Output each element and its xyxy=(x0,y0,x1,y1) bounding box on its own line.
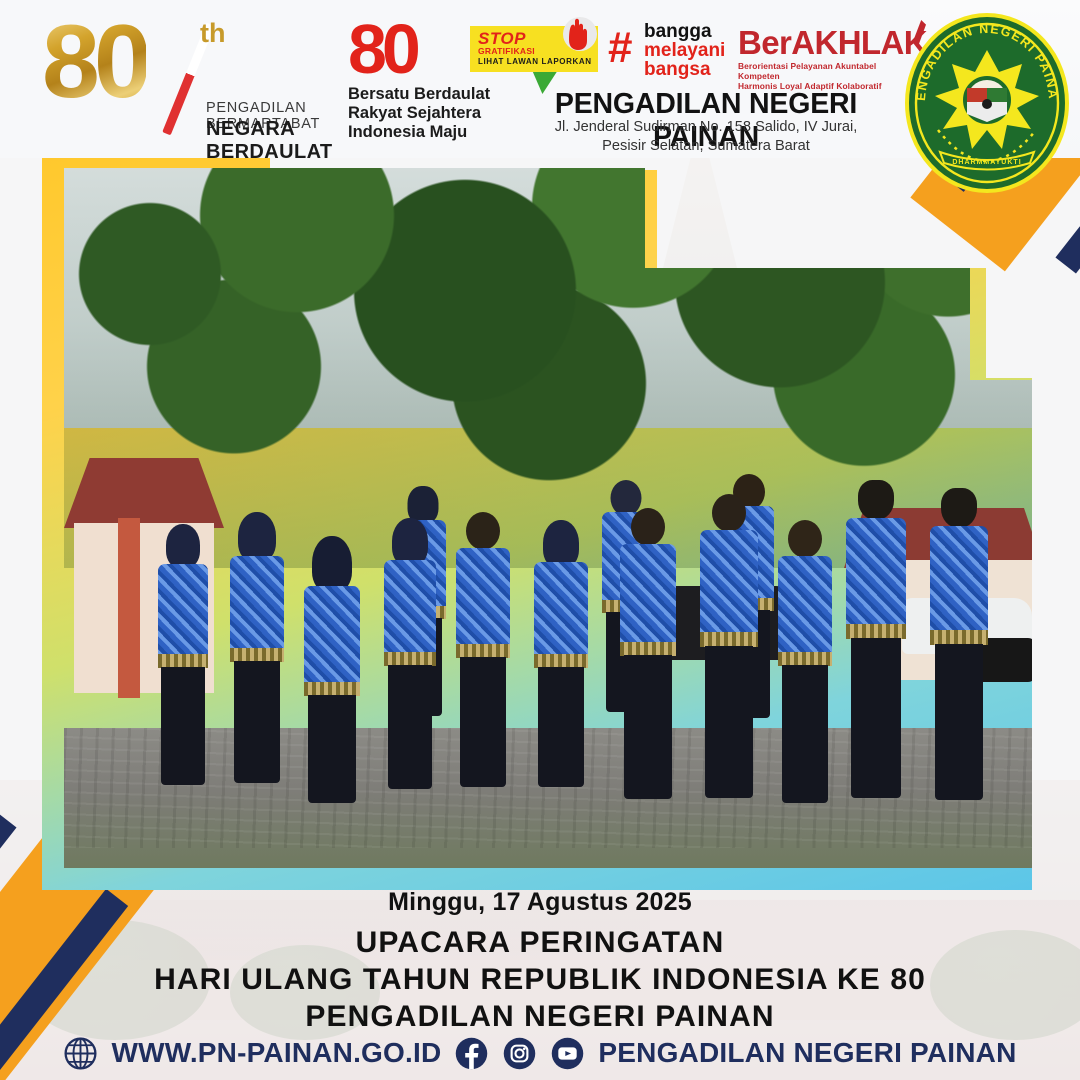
globe-icon[interactable] xyxy=(63,1036,98,1071)
ceremony-photo xyxy=(64,168,1032,868)
bangga-word3: bangsa xyxy=(644,60,711,80)
court-address-line2: Pesisir Selatan, Sumatera Barat xyxy=(500,137,912,156)
poster-canvas: 80 th PENGADILAN BERMARTABAT NEGARA BERD… xyxy=(0,0,1080,1080)
berakhlak-title: BerAKHLAK xyxy=(738,26,918,59)
caption-block: Minggu, 17 Agustus 2025 UPACARA PERINGAT… xyxy=(0,888,1080,1034)
photo-person xyxy=(846,480,906,798)
photo-person xyxy=(384,518,436,788)
logo-stop-gratifikasi: STOP GRATIFIKASI LIHAT LAWAN LAPORKAN xyxy=(470,20,602,82)
court-address-line1: Jl. Jenderal Sudirman No. 158 Salido, IV… xyxy=(500,118,912,137)
stop-line2: GRATIFIKASI xyxy=(478,46,535,56)
photo-person xyxy=(304,536,360,802)
logo-berakhlak: BerAKHLAK Berorientasi Pelayanan Akuntab… xyxy=(738,26,918,86)
photo-person xyxy=(620,508,676,800)
photo-person xyxy=(700,494,758,798)
logo-80th-superscript: th xyxy=(200,18,225,49)
photo-person xyxy=(778,520,832,802)
photo-person xyxy=(158,524,208,786)
logo-80th-anniversary: 80 th PENGADILAN BERMARTABAT NEGARA BERD… xyxy=(34,12,354,140)
seal-motto: DHARMMAYUKTI xyxy=(952,159,1021,166)
photo-person xyxy=(230,512,284,784)
photo-person xyxy=(456,512,510,788)
instagram-icon[interactable] xyxy=(502,1036,537,1071)
logo-80-red-line1: Bersatu Berdaulat xyxy=(348,85,508,104)
caption-date: Minggu, 17 Agustus 2025 xyxy=(0,888,1080,917)
photo-building-roof-left xyxy=(64,458,224,528)
website-url[interactable]: WWW.PN-PAINAN.GO.ID xyxy=(111,1037,441,1069)
facebook-icon[interactable] xyxy=(454,1036,489,1071)
caption-line2: HARI ULANG TAHUN REPUBLIK INDONESIA KE 8… xyxy=(0,963,1080,997)
organization-name[interactable]: PENGADILAN NEGERI PAINAN xyxy=(598,1037,1016,1069)
youtube-icon[interactable] xyxy=(550,1036,585,1071)
logo-80th-line2: NEGARA BERDAULAT xyxy=(206,118,354,164)
footer-bar: WWW.PN-PAINAN.GO.ID PENGADILAN NEGERI PA… xyxy=(0,1026,1080,1080)
court-address: Jl. Jenderal Sudirman No. 158 Salido, IV… xyxy=(500,118,912,155)
logo-80-red-line3: Indonesia Maju xyxy=(348,123,508,142)
logo-80-red-line2: Rakyat Sejahtera xyxy=(348,104,508,123)
logo-bangga-melayani-bangsa: # bangga melayani bangsa xyxy=(608,22,732,84)
stop-line3: LIHAT LAWAN LAPORKAN xyxy=(478,57,592,66)
photo-pillar xyxy=(118,518,140,698)
caption-line1: UPACARA PERINGATAN xyxy=(0,926,1080,960)
hash-icon: # xyxy=(608,26,632,70)
photo-person xyxy=(930,488,988,800)
logo-80th-number: 80 xyxy=(42,10,146,114)
berakhlak-sub1: Berorientasi Pelayanan Akuntabel Kompete… xyxy=(738,61,918,81)
court-seal-icon: PENGADILAN NEGERI PAINAN DHARMMAYUKTI xyxy=(900,12,1074,194)
stop-hand-icon xyxy=(556,12,600,56)
photo-person xyxy=(534,520,588,788)
